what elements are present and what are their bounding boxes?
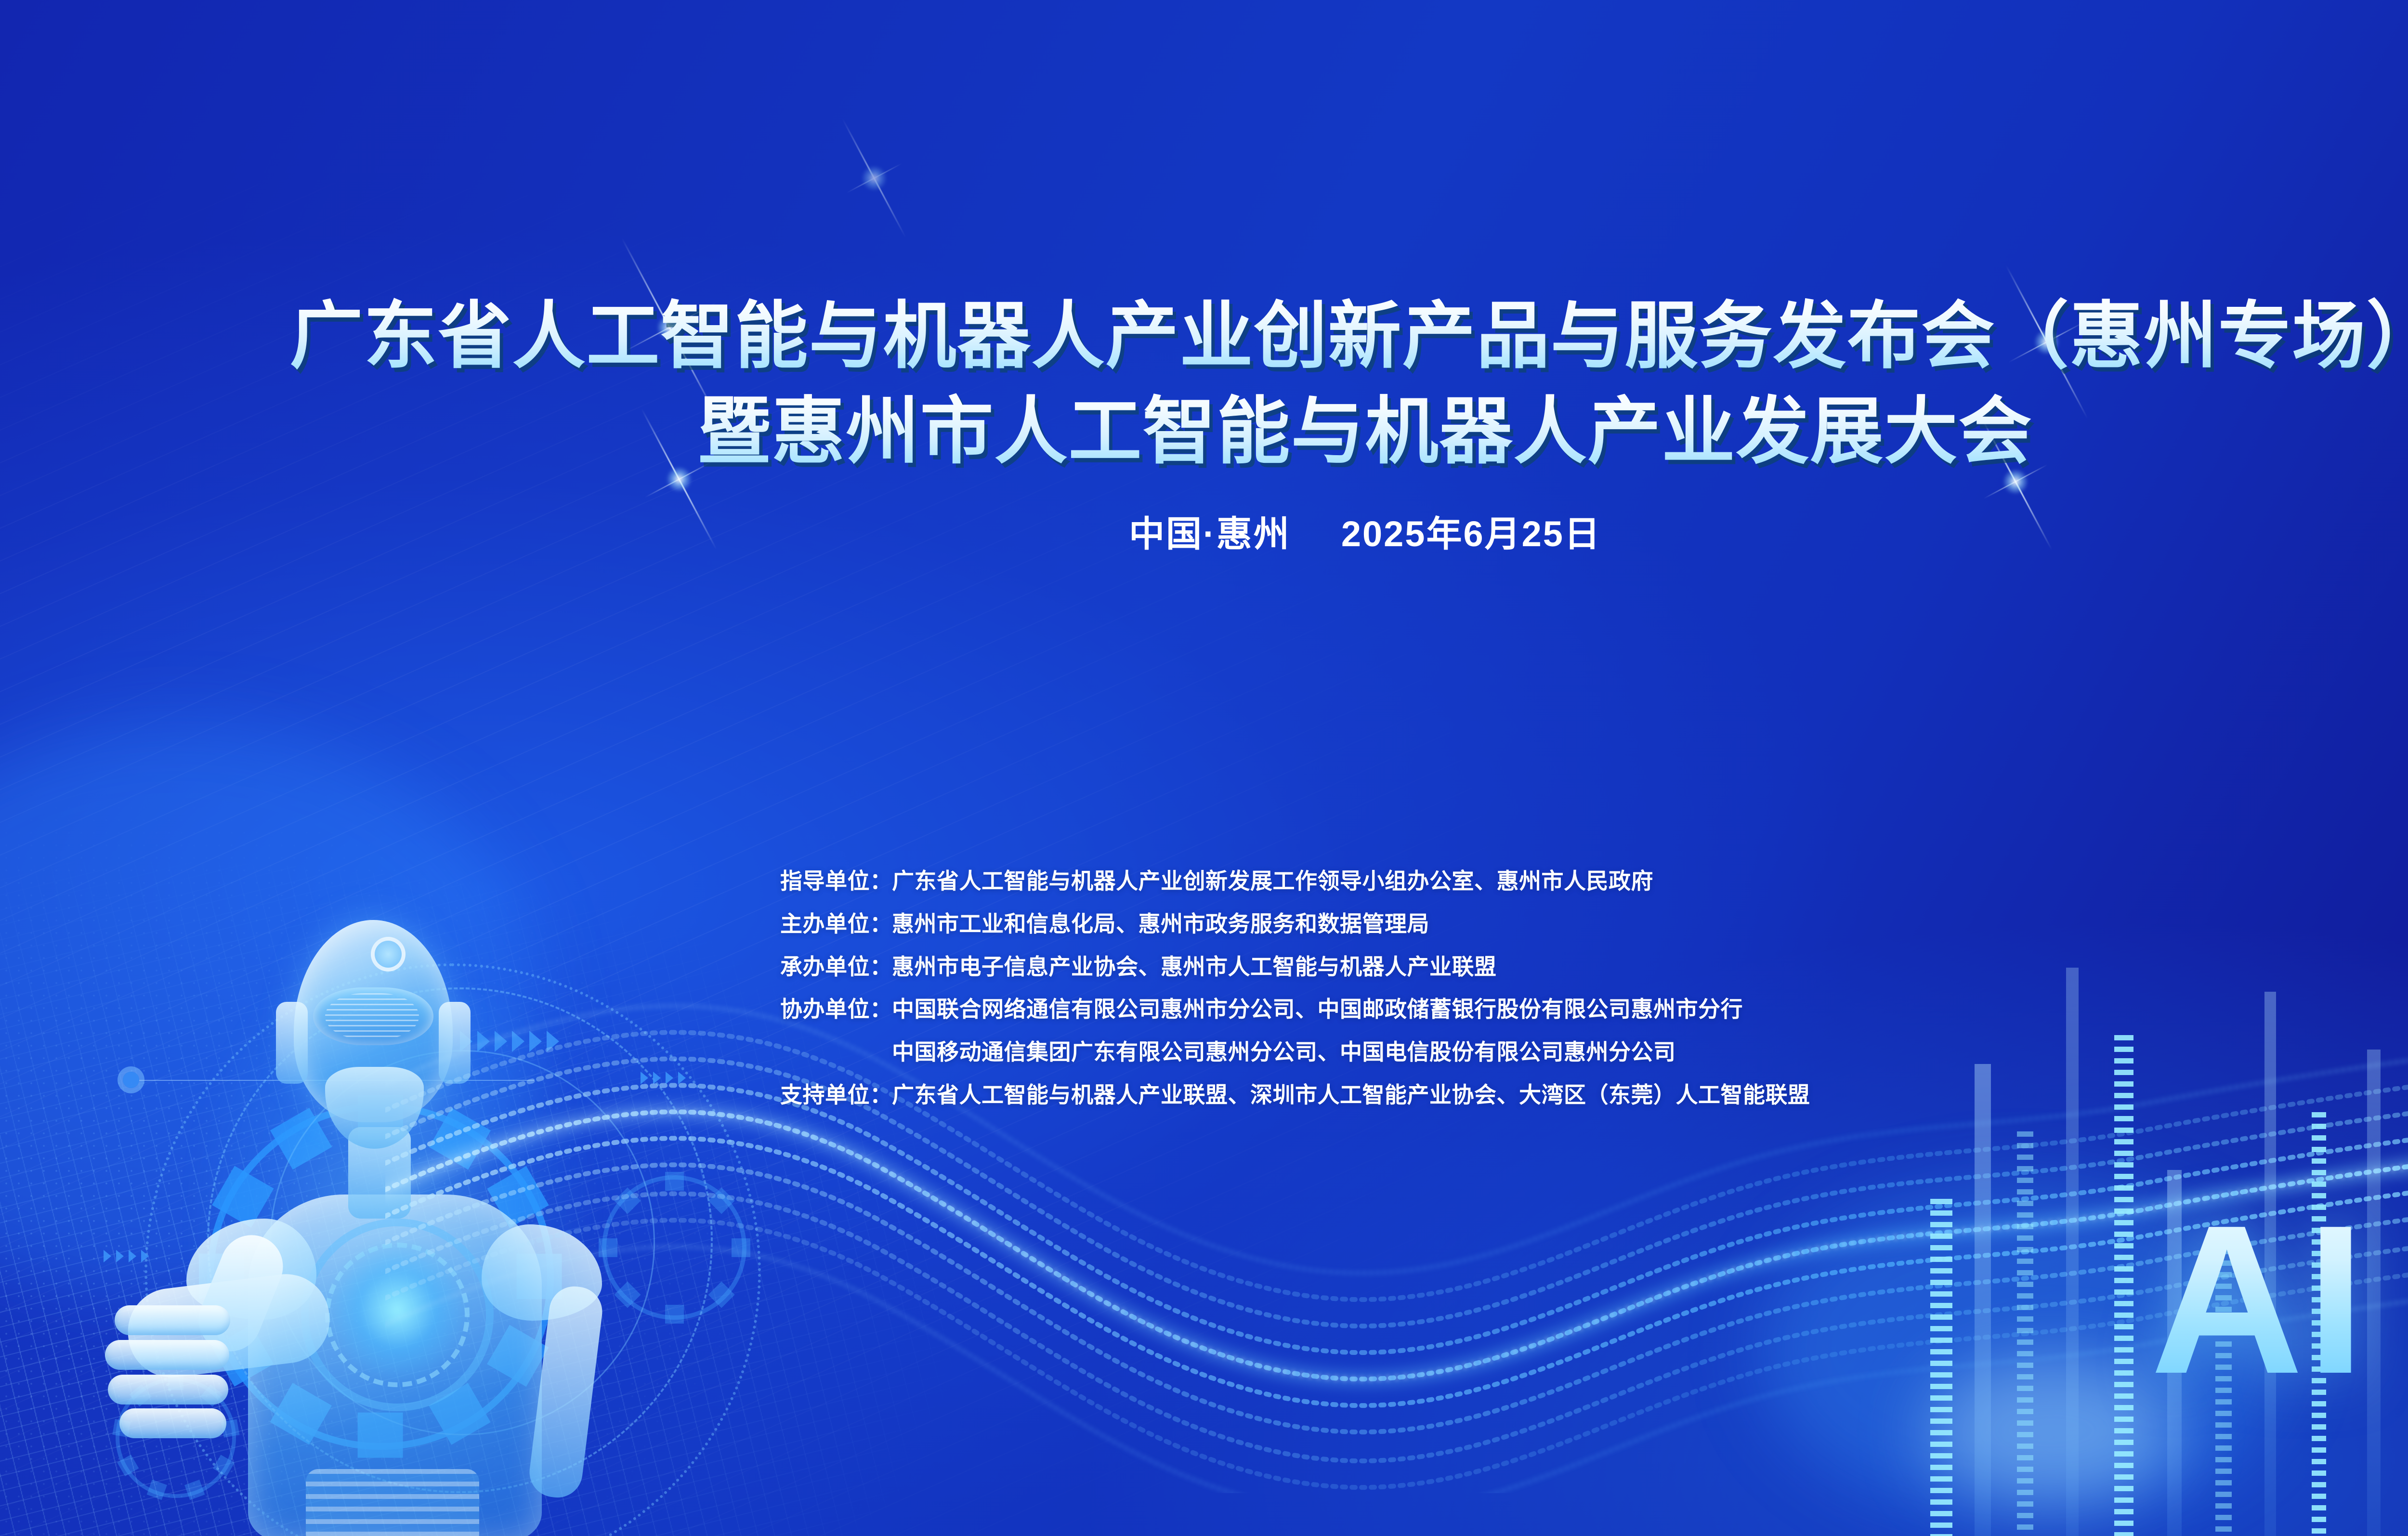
organizer-row: 承办单位：惠州市电子信息产业协会、惠州市人工智能与机器人产业联盟 (780, 945, 1810, 988)
organizer-value: 中国联合网络通信有限公司惠州市分公司、中国邮政储蓄银行股份有限公司惠州市分行 (892, 988, 1810, 1031)
event-meta: 中国·惠州 2025年6月25日 (0, 505, 2408, 557)
organizer-value: 惠州市电子信息产业协会、惠州市人工智能与机器人产业联盟 (892, 945, 1810, 988)
event-location: 中国·惠州 (1129, 514, 1291, 554)
organizer-label: 主办单位： (780, 903, 892, 945)
headline-block: 广东省人工智能与机器人产业创新产品与服务发布会（惠州专场） 暨惠州市人工智能与机… (0, 289, 2408, 557)
organizer-value: 广东省人工智能与机器人产业创新发展工作领导小组办公室、惠州市人民政府 (892, 860, 1810, 903)
organizer-label: 承办单位： (780, 945, 892, 988)
event-title-line-2: 暨惠州市人工智能与机器人产业发展大会 (0, 384, 2408, 480)
organizer-value: 惠州市工业和信息化局、惠州市政务服务和数据管理局 (892, 903, 1810, 945)
organizer-value: 中国移动通信集团广东有限公司惠州分公司、中国电信股份有限公司惠州分公司 (892, 1031, 1810, 1074)
sparkle-icon-5 (815, 104, 933, 252)
organizer-label: 协办单位： (780, 988, 892, 1031)
poster-canvas: AI AI 广东省人工智能与机器人产业创新产品与服务发布会（惠州专场） 暨惠州市… (0, 0, 2408, 1536)
event-title-line-1: 广东省人工智能与机器人产业创新产品与服务发布会（惠州专场） (0, 289, 2408, 384)
organizer-row: 支持单位：广东省人工智能与机器人产业联盟、深圳市人工智能产业协会、大湾区（东莞）… (780, 1074, 1810, 1116)
organizers-block: 指导单位：广东省人工智能与机器人产业创新发展工作领导小组办公室、惠州市人民政府主… (780, 860, 1810, 1116)
organizer-value: 广东省人工智能与机器人产业联盟、深圳市人工智能产业协会、大湾区（东莞）人工智能联… (892, 1074, 1810, 1116)
robot-hand (92, 1305, 250, 1464)
event-date: 2025年6月25日 (1341, 514, 1601, 554)
organizer-row: 指导单位：广东省人工智能与机器人产业创新发展工作领导小组办公室、惠州市人民政府 (780, 860, 1810, 903)
organizer-row: 协办单位：中国联合网络通信有限公司惠州市分公司、中国邮政储蓄银行股份有限公司惠州… (780, 988, 1810, 1031)
organizer-row: 协办单位：中国移动通信集团广东有限公司惠州分公司、中国电信股份有限公司惠州分公司 (780, 1031, 1810, 1074)
ai-mark: AI (2150, 1199, 2368, 1401)
organizer-label: 支持单位： (780, 1074, 892, 1116)
organizer-label: 指导单位： (780, 860, 892, 903)
organizer-row: 主办单位：惠州市工业和信息化局、惠州市政务服务和数据管理局 (780, 903, 1810, 945)
